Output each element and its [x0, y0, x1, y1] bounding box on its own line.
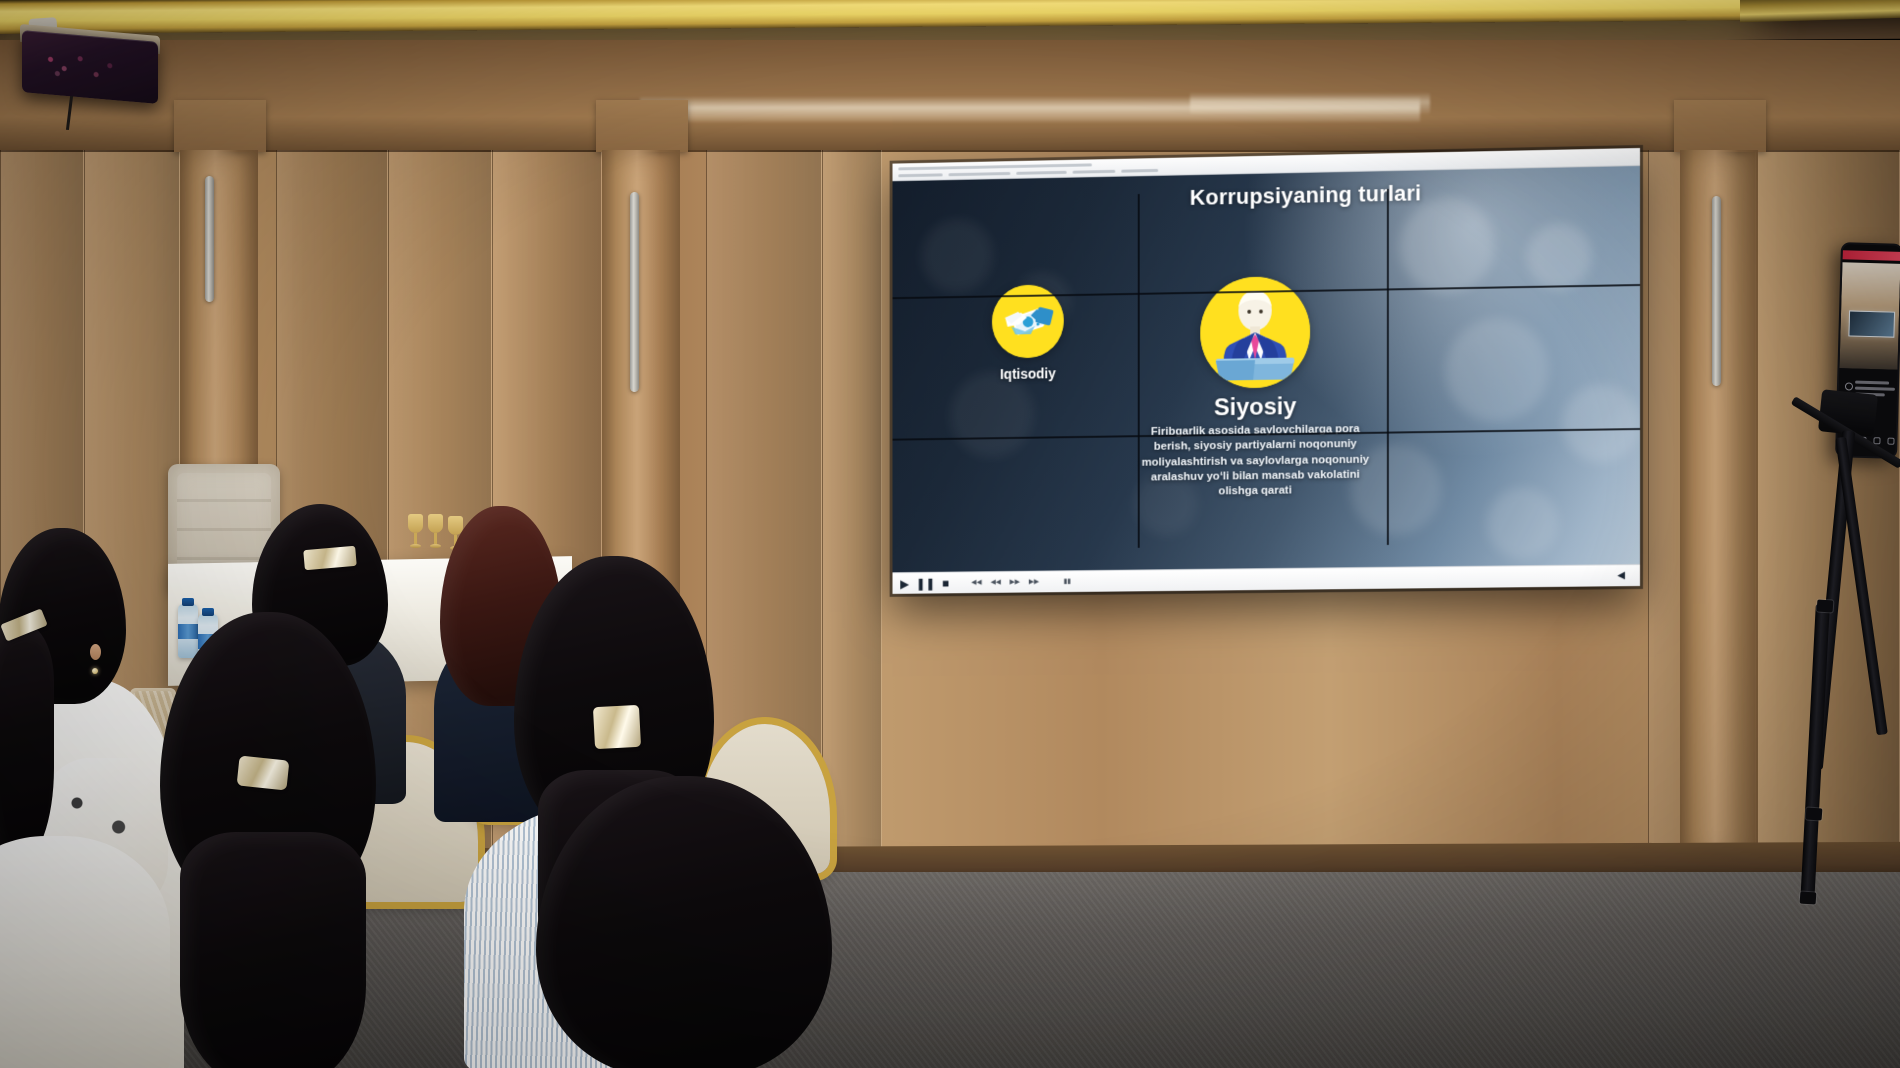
- forward-button[interactable]: ▶▶: [1010, 579, 1020, 586]
- video-wall[interactable]: Korrupsiyaning turlari: [893, 148, 1640, 594]
- pause-button[interactable]: ❚❚: [916, 577, 935, 589]
- stop-button[interactable]: ■: [942, 577, 949, 589]
- person-clothing: [0, 836, 170, 1068]
- phone-icon[interactable]: [1887, 438, 1894, 445]
- tripod-leg-clamp[interactable]: [1817, 599, 1834, 612]
- wall-gloss-reflection-2: [1190, 92, 1430, 114]
- next-track-button[interactable]: ▶▶: [1029, 579, 1039, 586]
- browser-menu-item[interactable]: [1016, 171, 1066, 175]
- video-wall-bezel-seam: [1387, 189, 1389, 545]
- hair-clip: [593, 705, 641, 749]
- person-hair-length: [180, 832, 366, 1068]
- tripod-leg-clamp[interactable]: [1800, 891, 1817, 904]
- browser-address-bar[interactable]: [898, 163, 1092, 170]
- water-bottle: [178, 604, 198, 658]
- browser-menu-item[interactable]: [898, 173, 942, 177]
- category-economic[interactable]: Iqtisodiy: [970, 284, 1086, 383]
- pillar-handle: [630, 192, 639, 392]
- rewind-button[interactable]: ◀◀: [990, 579, 1000, 586]
- ear: [90, 644, 101, 660]
- goblet: [408, 514, 423, 550]
- pillar-cap: [174, 100, 266, 152]
- bokeh-circle: [1562, 384, 1640, 463]
- video-wall-bezel-seam: [1138, 194, 1140, 548]
- conference-hall-scene: Korrupsiyaning turlari: [0, 0, 1900, 1068]
- browser-menu-item[interactable]: [948, 172, 1010, 176]
- bokeh-circle: [921, 219, 993, 293]
- previous-track-button[interactable]: ◀◀: [971, 579, 981, 586]
- wall-speaker: [22, 30, 158, 104]
- person-hair-strand: [0, 624, 54, 864]
- browser-menu-item[interactable]: [1121, 169, 1158, 173]
- fullscreen-button[interactable]: ▮▮: [1064, 578, 1072, 585]
- pillar-cap: [596, 100, 688, 152]
- hair-clip: [237, 755, 290, 790]
- slide-title: Korrupsiyaning turlari: [893, 176, 1640, 217]
- bokeh-circle: [1526, 223, 1592, 290]
- wall-plank: [822, 150, 882, 862]
- goblet: [428, 514, 443, 550]
- bokeh-circle: [950, 372, 1033, 458]
- category-economic-label: Iqtisodiy: [970, 365, 1086, 383]
- category-political[interactable]: Siyosiy Firibgarlik asosida saylovchilar…: [1133, 275, 1378, 501]
- bokeh-circle: [1445, 318, 1548, 423]
- play-button[interactable]: ▶: [900, 578, 909, 590]
- pillar-handle: [1712, 196, 1721, 386]
- live-status-banner: [1843, 250, 1900, 261]
- presentation-slide[interactable]: Korrupsiyaning turlari: [893, 166, 1640, 572]
- bokeh-circle: [1487, 487, 1558, 560]
- earring: [92, 668, 98, 674]
- bokeh-circle: [1400, 197, 1495, 294]
- browser-menu-item[interactable]: [1073, 170, 1116, 174]
- pillar-cap: [1674, 100, 1766, 152]
- category-political-label: Siyosiy: [1133, 392, 1378, 423]
- tripod-leg-clamp[interactable]: [1806, 807, 1823, 820]
- volume-icon[interactable]: ◀: [1617, 571, 1625, 581]
- phone-camera-preview: [1839, 262, 1900, 370]
- pillar-handle: [205, 176, 214, 302]
